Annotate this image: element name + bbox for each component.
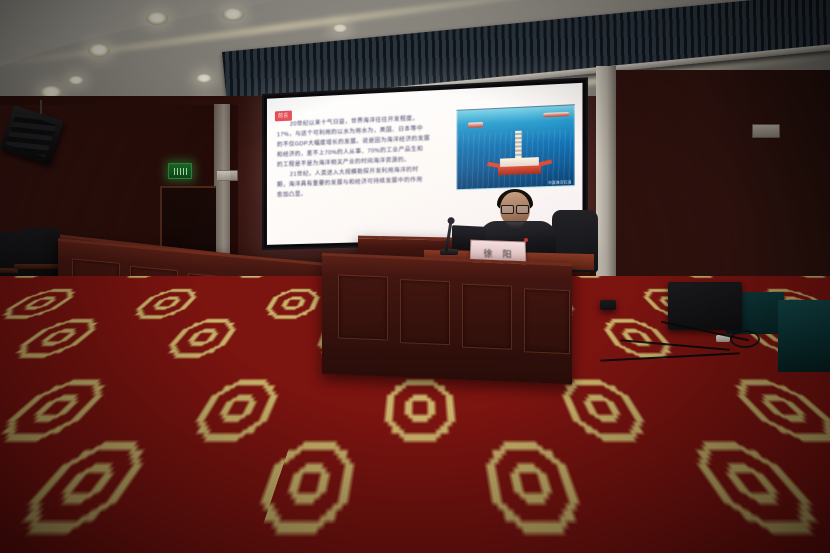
downlight-icon xyxy=(222,8,244,21)
microphone-base xyxy=(440,249,458,255)
amplifier-case xyxy=(600,300,616,310)
supply-vessel-icon xyxy=(468,122,483,128)
oil-rig-icon xyxy=(498,130,541,178)
downlight-icon xyxy=(68,76,84,85)
desk-panel xyxy=(462,284,512,350)
exit-sign-glyph xyxy=(174,168,187,175)
desk-row-middle xyxy=(322,253,572,384)
light-switch-panel[interactable] xyxy=(752,124,780,138)
desk-panel xyxy=(400,279,450,345)
downlight-icon xyxy=(332,24,348,33)
glasses-icon xyxy=(501,205,529,212)
placard-char-2: 阳 xyxy=(502,247,512,260)
downlight-icon xyxy=(196,74,212,83)
audience-chair[interactable] xyxy=(18,228,60,288)
draped-table xyxy=(778,300,830,372)
exit-sign-icon xyxy=(168,163,192,179)
slide-body-text: 20世纪以来十气日益，世界海洋往往开发程度。 17%，与这个可利用的以水为用水为… xyxy=(277,112,451,200)
rig-hull xyxy=(498,165,541,175)
placard-char-1: 徐 xyxy=(483,246,493,259)
wall-pillar-right xyxy=(596,66,616,308)
chair-leg xyxy=(52,280,55,302)
rig-derrick xyxy=(515,131,521,160)
downlight-icon xyxy=(88,44,110,57)
downlight-icon xyxy=(146,12,168,25)
desk-panel xyxy=(524,288,570,354)
cargo-ship-icon xyxy=(543,112,569,117)
desk-panel xyxy=(338,274,388,340)
equipment-case xyxy=(668,282,742,330)
light-switch-panel[interactable] xyxy=(216,170,238,181)
desk-panel xyxy=(72,258,120,320)
slide-photo-offshore-platform: 中国海洋石油 xyxy=(457,104,575,190)
desk-panel xyxy=(188,273,236,335)
chair-leg xyxy=(8,282,11,304)
desk-panel xyxy=(130,266,178,328)
conference-hall-scene: 前言 20世纪以来十气日益，世界海洋往往开发程度。 17%，与这个可利用的以水为… xyxy=(0,0,830,553)
photo-caption: 中国海洋石油 xyxy=(548,179,571,185)
desk-panel xyxy=(246,281,294,343)
